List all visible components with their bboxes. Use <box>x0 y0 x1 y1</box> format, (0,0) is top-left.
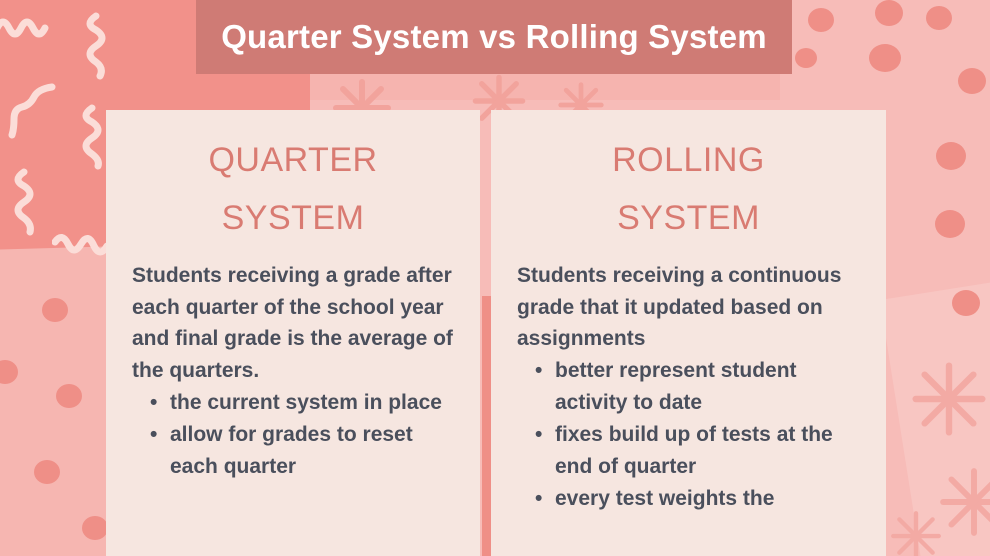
dot-decoration-6 <box>808 8 834 32</box>
dot-decoration-1 <box>42 298 68 322</box>
dot-decoration-11 <box>936 142 966 170</box>
list-item: better represent student activity to dat… <box>555 355 860 419</box>
rolling-system-heading-line2: SYSTEM <box>617 199 760 237</box>
dot-decoration-4 <box>34 460 60 484</box>
list-item: allow for grades to reset each quarter <box>170 419 454 483</box>
squiggle-decoration-3 <box>8 82 64 142</box>
dot-decoration-13 <box>952 290 980 316</box>
page-title: Quarter System vs Rolling System <box>221 18 767 56</box>
quarter-system-paragraph: Students receiving a grade after each qu… <box>132 260 454 388</box>
squiggle-decoration-1 <box>0 10 65 50</box>
card-gap-stripe <box>482 296 491 556</box>
rolling-system-paragraph: Students receiving a continuous grade th… <box>517 260 860 356</box>
starburst-decoration-6 <box>888 508 944 556</box>
dot-decoration-12 <box>935 210 965 238</box>
dot-decoration-10 <box>958 68 986 94</box>
dot-decoration-7 <box>875 0 903 26</box>
rolling-system-heading: ROLLING SYSTEM <box>517 132 860 248</box>
quarter-system-heading: QUARTER SYSTEM <box>132 132 454 248</box>
dot-decoration-2 <box>0 360 18 384</box>
title-banner: Quarter System vs Rolling System <box>196 0 792 74</box>
starburst-decoration-5 <box>936 464 990 540</box>
squiggle-decoration-5 <box>8 168 48 236</box>
quarter-system-heading-line2: SYSTEM <box>222 199 365 237</box>
dot-decoration-5 <box>82 516 108 540</box>
list-item: the current system in place <box>170 387 454 419</box>
quarter-system-bullet-list: the current system in place allow for gr… <box>132 387 454 483</box>
dot-decoration-8 <box>926 6 952 30</box>
dot-decoration-3 <box>56 384 82 408</box>
starburst-decoration-4 <box>908 358 990 440</box>
list-item: fixes build up of tests at the end of qu… <box>555 419 860 483</box>
rolling-system-heading-line1: ROLLING <box>612 141 765 179</box>
rolling-system-card: ROLLING SYSTEM Students receiving a cont… <box>491 110 886 556</box>
rolling-system-bullet-list: better represent student activity to dat… <box>517 355 860 515</box>
poster-canvas: Quarter System vs Rolling System QUARTER… <box>0 0 990 556</box>
dot-decoration-9 <box>869 44 901 72</box>
squiggle-decoration-2 <box>84 12 130 82</box>
dot-decoration-14 <box>795 48 817 68</box>
list-item: every test weights the <box>555 483 860 515</box>
quarter-system-card: QUARTER SYSTEM Students receiving a grad… <box>106 110 480 556</box>
quarter-system-heading-line1: QUARTER <box>208 141 377 179</box>
